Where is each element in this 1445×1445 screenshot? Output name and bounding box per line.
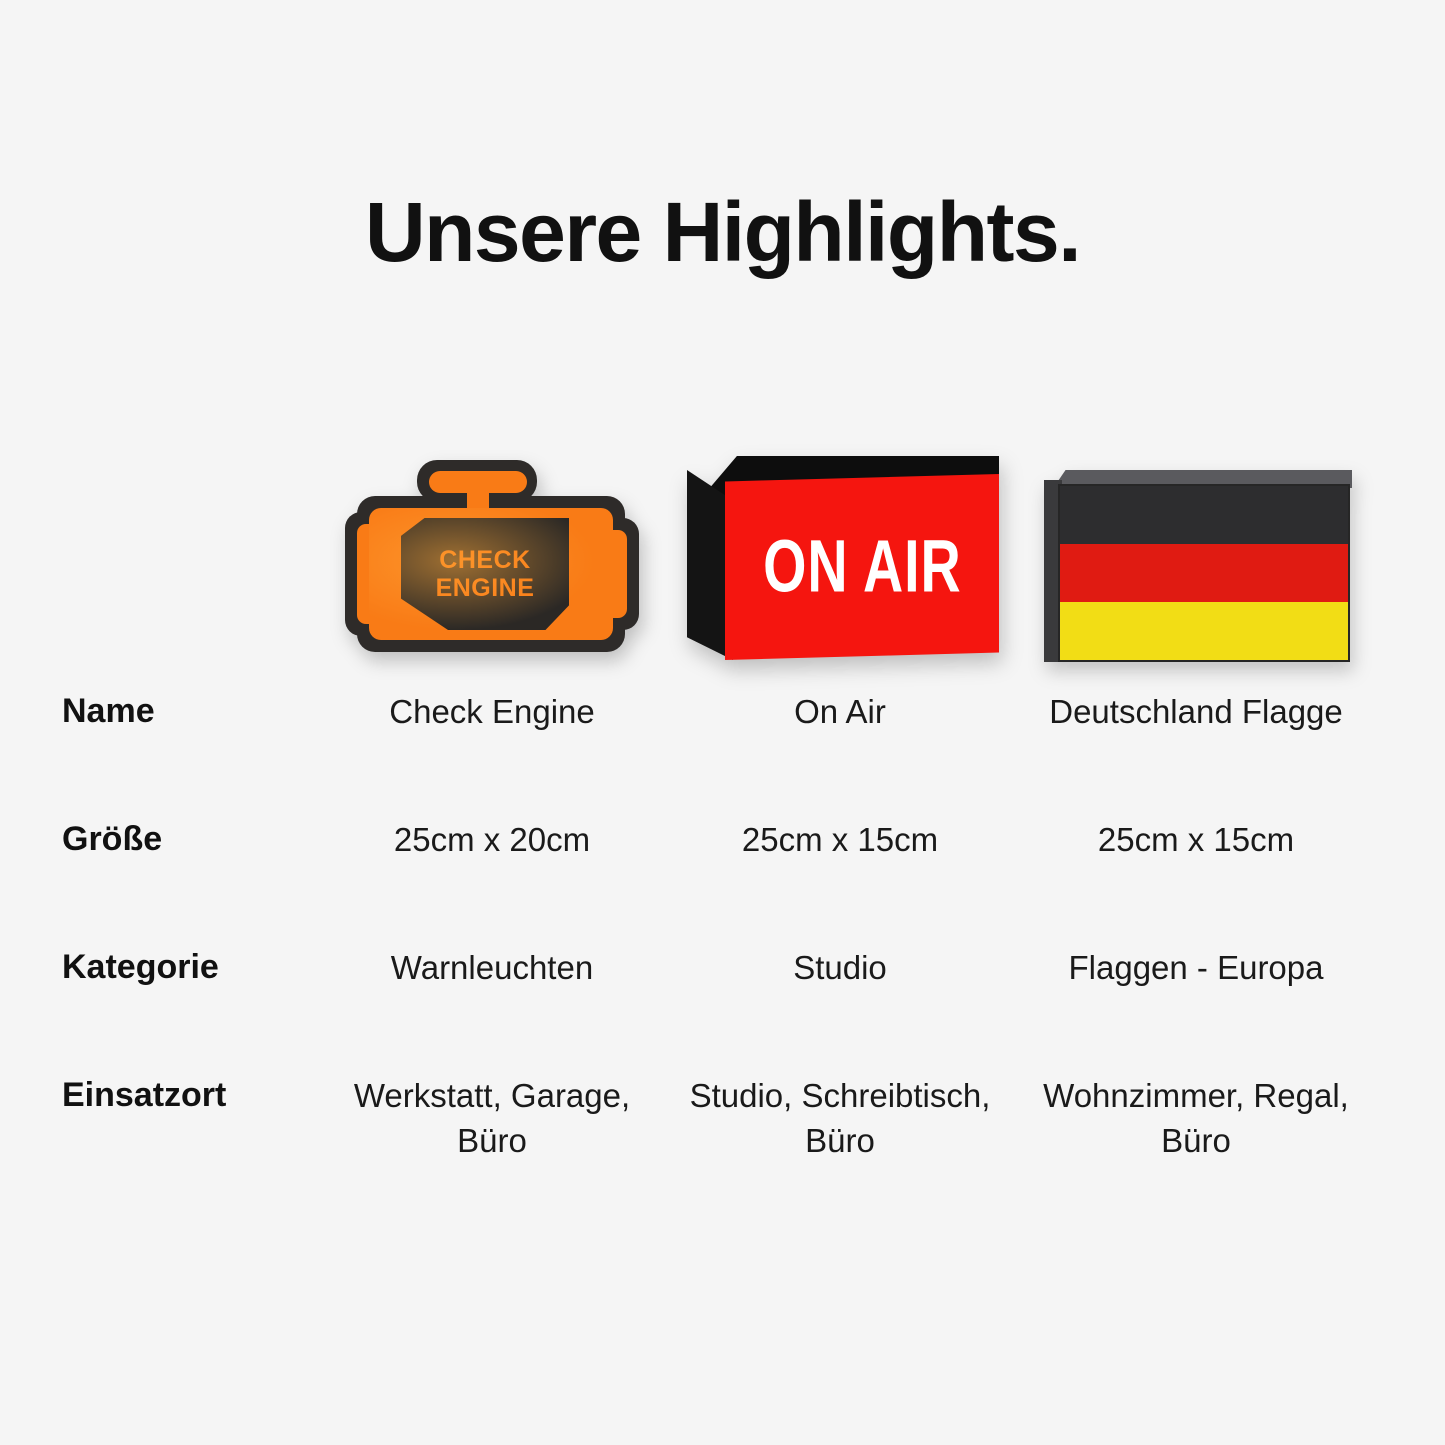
row-label-groesse: Größe [62,818,312,861]
cell-kategorie-deutschland-flagge: Flaggen - Europa [1034,946,1358,991]
cell-groesse-check-engine: 25cm x 20cm [330,818,654,863]
check-engine-label-line1: CHECK [439,546,530,574]
engine-glow-bar-right [575,560,605,586]
cell-kategorie-check-engine: Warnleuchten [330,946,654,991]
flag-band-yellow [1060,602,1348,660]
cell-kategorie-on-air: Studio [678,946,1002,991]
cell-name-deutschland-flagge: Deutschland Flagge [1034,690,1358,735]
product-image-row: CHECK ENGINE ON AIR [0,405,1445,670]
table-row-name: Name Check Engine On Air Deutschland Fla… [0,690,1445,818]
page-title: Unsere Highlights. [0,188,1445,276]
cell-einsatzort-deutschland-flagge: Wohnzimmer, Regal, Büro [1034,1074,1358,1163]
cell-einsatzort-check-engine: Werkstatt, Garage, Büro [330,1074,654,1163]
check-engine-lamp-icon: CHECK ENGINE [339,454,645,670]
row-label-einsatzort: Einsatzort [62,1074,312,1117]
check-engine-text-panel: CHECK ENGINE [401,518,569,630]
table-row-einsatzort: Einsatzort Werkstatt, Garage, Büro Studi… [0,1074,1445,1244]
row-label-name: Name [62,690,312,733]
cell-groesse-on-air: 25cm x 15cm [678,818,1002,863]
flag-box-front-face [1058,484,1350,662]
highlights-comparison-page: Unsere Highlights. [0,0,1445,1445]
on-air-label: ON AIR [763,530,962,604]
product-image-on-air[interactable]: ON AIR [666,405,1014,670]
cell-groesse-deutschland-flagge: 25cm x 15cm [1034,818,1358,863]
flag-band-red [1060,544,1348,602]
table-row-kategorie: Kategorie Warnleuchten Studio Flaggen - … [0,946,1445,1074]
cell-name-check-engine: Check Engine [330,690,654,735]
table-row-groesse: Größe 25cm x 20cm 25cm x 15cm 25cm x 15c… [0,818,1445,946]
germany-flag-lightbox-icon [1040,470,1352,670]
spec-comparison-table: Name Check Engine On Air Deutschland Fla… [0,690,1445,1244]
product-image-deutschland-flagge[interactable] [1022,405,1370,670]
flag-band-black [1060,486,1348,544]
row-label-kategorie: Kategorie [62,946,312,989]
product-image-check-engine[interactable]: CHECK ENGINE [318,405,666,670]
on-air-lightbox-icon: ON AIR [681,452,999,670]
on-air-box-front-face: ON AIR [725,474,999,660]
check-engine-label-line2: ENGINE [436,574,535,602]
check-engine-label: CHECK ENGINE [436,546,535,602]
cell-name-on-air: On Air [678,690,1002,735]
cell-einsatzort-on-air: Studio, Schreibtisch, Büro [678,1074,1002,1163]
